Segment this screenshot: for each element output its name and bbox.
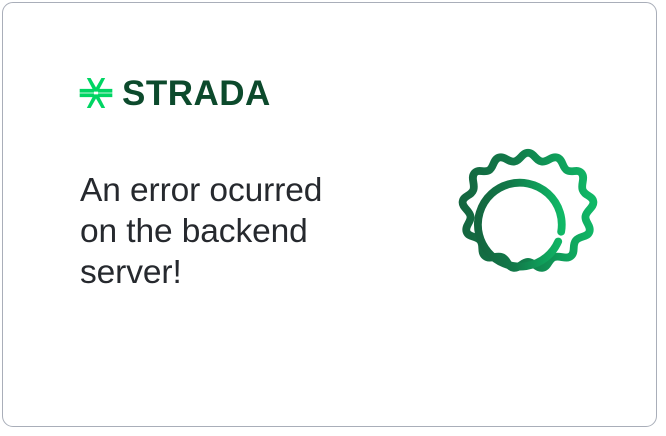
gear-icon [450, 141, 606, 301]
error-headline: An error ocurred on the backend server! [80, 170, 360, 293]
error-card: STRADA An error ocurred on the backend s… [2, 2, 657, 427]
brand-wordmark: STRADA [122, 76, 271, 111]
strada-asterisk-icon [79, 76, 113, 110]
brand-lockup: STRADA [79, 73, 271, 113]
